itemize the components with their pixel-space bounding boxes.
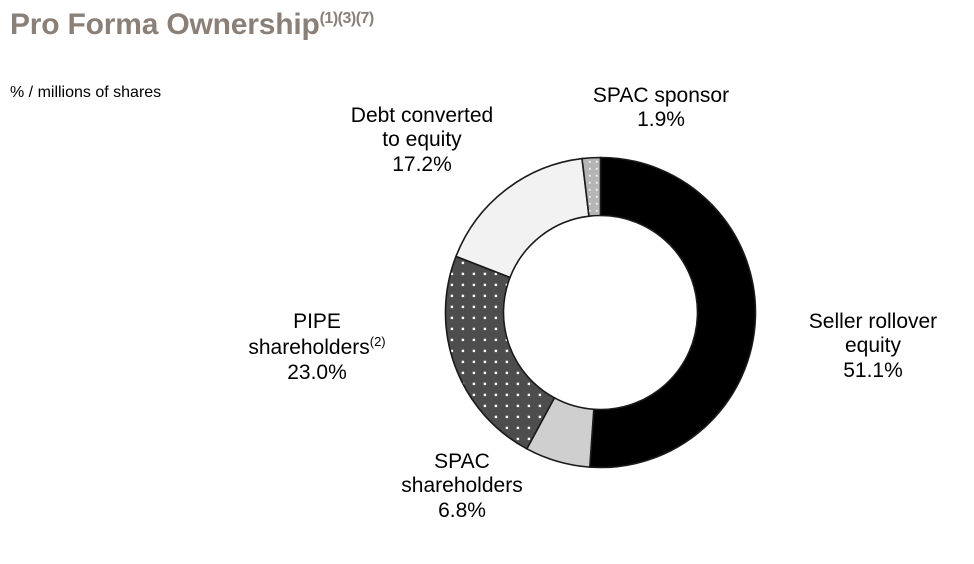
- slice-label-spac-shareholders: SPAC shareholders 6.8%: [356, 450, 568, 523]
- slice-label-line2: shareholders: [356, 474, 568, 498]
- slice-label-footnote-ref: (2): [370, 334, 386, 349]
- donut-chart-svg: [428, 140, 773, 485]
- slice-value: 23.0%: [206, 361, 428, 385]
- slice-label-line2: equity: [778, 334, 968, 358]
- slice-label-line2: to equity: [306, 128, 538, 152]
- slice-label-spac-sponsor: SPAC sponsor 1.9%: [556, 84, 766, 133]
- units-caption: % / millions of shares: [10, 84, 161, 102]
- page-title-footnote-refs: (1)(3)(7): [320, 10, 374, 27]
- page-title-text: Pro Forma Ownership: [10, 8, 320, 41]
- slice-label-line2-text: shareholders: [248, 336, 369, 359]
- slice-label-debt-converted: Debt converted to equity 17.2%: [306, 104, 538, 177]
- donut-slice-pipe-shareholders[interactable]: [445, 256, 554, 448]
- slice-label-line2: shareholders(2): [206, 334, 428, 360]
- slice-label-line1: SPAC: [356, 450, 568, 474]
- slice-value: 6.8%: [356, 499, 568, 523]
- slice-label-line1: PIPE: [206, 310, 428, 334]
- slice-label-line1: Debt converted: [306, 104, 538, 128]
- slice-label-seller-rollover: Seller rollover equity 51.1%: [778, 310, 968, 383]
- slice-label-line1: Seller rollover: [778, 310, 968, 334]
- slice-value: 1.9%: [556, 108, 766, 132]
- slice-value: 51.1%: [778, 359, 968, 383]
- slice-label-pipe-shareholders: PIPE shareholders(2) 23.0%: [206, 310, 428, 385]
- slice-label-line1: SPAC sponsor: [556, 84, 766, 108]
- slice-value: 17.2%: [306, 153, 538, 177]
- ownership-donut-chart: [428, 140, 773, 485]
- page-title: Pro Forma Ownership(1)(3)(7): [10, 8, 374, 42]
- donut-slice-seller-rollover[interactable]: [590, 158, 756, 468]
